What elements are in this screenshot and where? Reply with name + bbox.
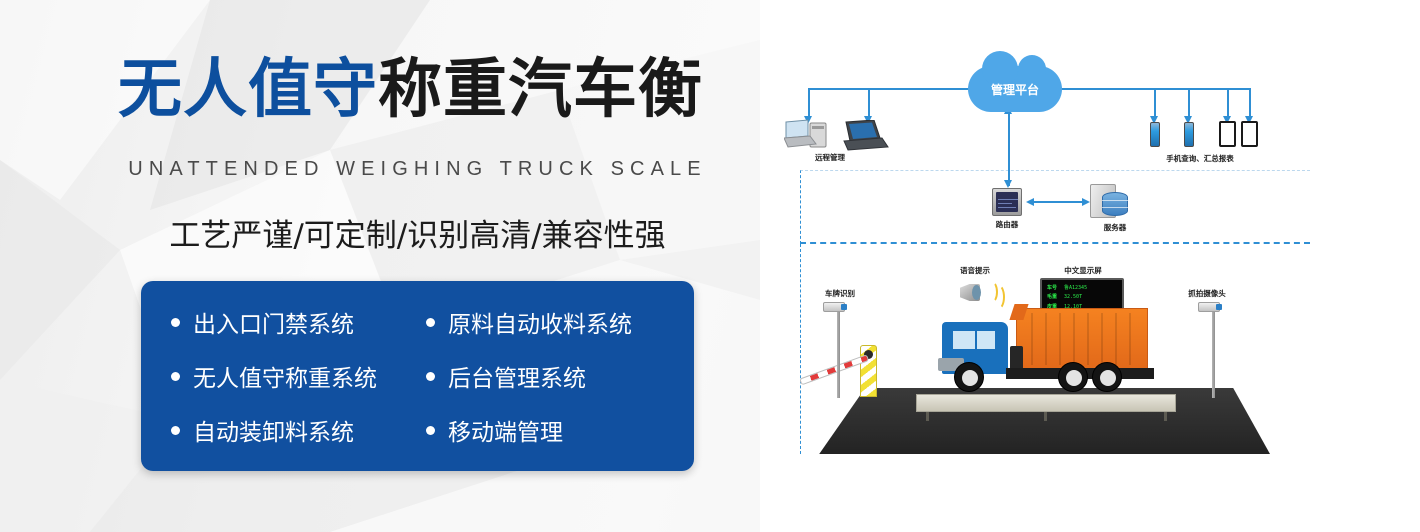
- feature-label: 原料自动收料系统: [448, 305, 632, 339]
- drop-line: [868, 88, 870, 118]
- drop-line: [1188, 88, 1190, 118]
- drop-line: [1227, 88, 1229, 118]
- feature-item[interactable]: 自动装卸料系统: [171, 413, 426, 447]
- network-layer-zone: [800, 170, 1310, 244]
- system-architecture-diagram: 管理平台 远程管理 手机查询、汇总报表: [760, 0, 1420, 532]
- bullet-icon: [426, 318, 435, 327]
- bridge-leg: [1044, 412, 1047, 421]
- barrier-gate-post: [860, 345, 877, 397]
- router-label: 路由器: [977, 219, 1037, 230]
- left-camera-label: 车牌识别: [810, 288, 870, 299]
- database-icon[interactable]: [1102, 192, 1128, 216]
- feature-label: 出入口门禁系统: [193, 305, 354, 339]
- uplink-line: [1008, 112, 1010, 186]
- bus-line-left: [808, 88, 970, 90]
- marketing-copy-panel: 无人值守称重汽车衡 UNATTENDED WEIGHING TRUCK SCAL…: [0, 0, 760, 532]
- page-title: 无人值守称重汽车衡: [118, 58, 703, 122]
- led-label: 中文显示屏: [1048, 265, 1118, 276]
- drop-line: [1154, 88, 1156, 118]
- subtitle-chinese: 工艺严谨/可定制/识别高清/兼容性强: [120, 210, 715, 255]
- feature-label: 移动端管理: [448, 413, 563, 447]
- truck-dump-bed: [1016, 308, 1148, 370]
- truck-wheel: [1092, 362, 1122, 392]
- arrow-right-icon: [1082, 198, 1090, 206]
- bullet-icon: [426, 426, 435, 435]
- feature-list-box: 出入口门禁系统 原料自动收料系统 无人值守称重系统 后台管理系统 自动装卸料系统…: [141, 281, 694, 471]
- truck-window: [951, 329, 997, 351]
- bridge-leg: [926, 412, 929, 421]
- feature-label: 后台管理系统: [448, 359, 586, 393]
- tablet-icon[interactable]: [1219, 121, 1236, 147]
- bullet-icon: [171, 318, 180, 327]
- led-row: 车号鲁A12345: [1047, 284, 1117, 293]
- drop-line: [1249, 88, 1251, 118]
- weighbridge-platform: [916, 394, 1176, 412]
- arrow-left-icon: [1026, 198, 1034, 206]
- tablet-icon[interactable]: [1241, 121, 1258, 147]
- bridge-leg: [1164, 412, 1167, 421]
- drop-line: [808, 88, 810, 118]
- cloud-label: 管理平台: [991, 81, 1039, 98]
- dump-truck-illustration: [932, 300, 1164, 396]
- truck-fuel-tank: [1010, 346, 1023, 370]
- left-device-label: 远程管理: [790, 152, 870, 163]
- right-device-label: 手机查询、汇总报表: [1135, 153, 1265, 164]
- feature-item[interactable]: 出入口门禁系统: [171, 305, 426, 339]
- title-highlight: 无人值守: [118, 53, 378, 127]
- bullet-icon: [426, 372, 435, 381]
- right-camera-label: 抓拍摄像头: [1172, 288, 1242, 299]
- license-plate-camera-icon[interactable]: [823, 302, 845, 312]
- title-rest: 称重汽车衡: [378, 53, 703, 127]
- truck-wheel: [1058, 362, 1088, 392]
- bullet-icon: [171, 426, 180, 435]
- laptop-icon[interactable]: [840, 120, 892, 154]
- feature-item[interactable]: 原料自动收料系统: [426, 305, 694, 339]
- led-key: 车号: [1047, 284, 1057, 293]
- desktop-computer-icon[interactable]: [784, 118, 836, 152]
- feature-item[interactable]: 移动端管理: [426, 413, 694, 447]
- server-label: 服务器: [1085, 222, 1145, 233]
- router-icon[interactable]: [992, 188, 1022, 216]
- capture-camera-icon[interactable]: [1198, 302, 1220, 312]
- truck-wheel: [954, 362, 984, 392]
- camera-pole: [1212, 310, 1215, 398]
- speaker-label: 语音提示: [945, 265, 1005, 276]
- subtitle-english: UNATTENDED WEIGHING TRUCK SCALE: [120, 158, 715, 181]
- feature-label: 无人值守称重系统: [193, 359, 377, 393]
- feature-item[interactable]: 无人值守称重系统: [171, 359, 426, 393]
- phone-icon[interactable]: [1150, 122, 1160, 147]
- cloud-platform-node[interactable]: 管理平台: [968, 66, 1062, 112]
- feature-item[interactable]: 后台管理系统: [426, 359, 694, 393]
- led-value: 鲁A12345: [1064, 284, 1087, 293]
- router-server-link: [1032, 201, 1082, 203]
- phone-icon[interactable]: [1184, 122, 1194, 147]
- camera-pole: [837, 310, 840, 398]
- bullet-icon: [171, 372, 180, 381]
- feature-label: 自动装卸料系统: [193, 413, 354, 447]
- arrow-down-icon: [1004, 180, 1012, 188]
